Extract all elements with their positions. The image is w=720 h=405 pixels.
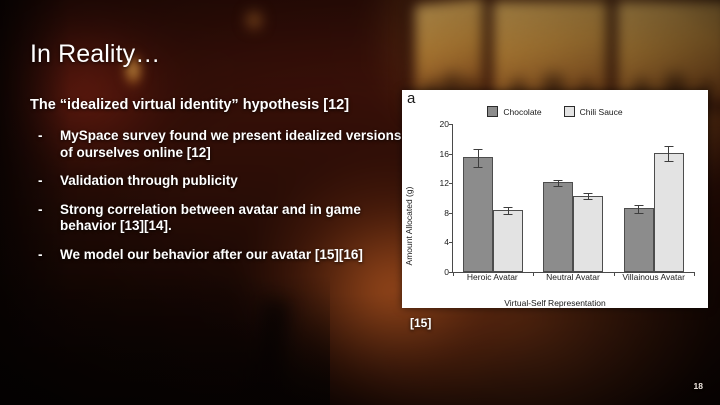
- error-bar-cap: [474, 167, 483, 168]
- chart-bar-group: [614, 124, 694, 272]
- chart-legend: Chocolate Chili Sauce: [402, 106, 708, 117]
- error-bar-cap: [634, 213, 643, 214]
- chart-x-tick-label: Neutral Avatar: [533, 272, 614, 282]
- chart-bar: [654, 153, 684, 272]
- chart-bar-groups: [453, 124, 694, 272]
- chart-bar: [624, 208, 654, 272]
- error-bar-stem: [668, 146, 669, 162]
- chart-y-tick-label: 12: [440, 178, 449, 188]
- chart-plot-area: 048121620: [452, 124, 694, 273]
- bullet-list: - MySpace survey found we present ideali…: [38, 128, 410, 275]
- legend-item-chocolate: Chocolate: [487, 106, 541, 117]
- chart-y-axis-label: Amount Allocated (g): [404, 156, 414, 296]
- bullet-text: We model our behavior after our avatar […: [60, 247, 410, 264]
- chart-bar: [493, 210, 523, 272]
- bullet-marker: -: [38, 128, 60, 161]
- bullet-text: Validation through publicity: [60, 173, 410, 190]
- presentation-slide: In Reality… The “idealized virtual ident…: [0, 0, 720, 405]
- bullet-marker: -: [38, 173, 60, 190]
- error-bar-cap: [504, 214, 513, 215]
- list-item: - MySpace survey found we present ideali…: [38, 128, 410, 161]
- chart-bar: [543, 182, 573, 272]
- bullet-text: Strong correlation between avatar and in…: [60, 202, 410, 235]
- list-item: - Strong correlation between avatar and …: [38, 202, 410, 235]
- bullet-text: MySpace survey found we present idealize…: [60, 128, 410, 161]
- list-item: - Validation through publicity: [38, 173, 410, 190]
- legend-swatch-chili-sauce: [564, 106, 575, 117]
- legend-swatch-chocolate: [487, 106, 498, 117]
- chart-y-tick-label: 16: [440, 149, 449, 159]
- bullet-marker: -: [38, 247, 60, 264]
- chart-bar-group: [453, 124, 533, 272]
- list-item: - We model our behavior after our avatar…: [38, 247, 410, 264]
- chart-error-bar: [504, 207, 513, 215]
- bullet-marker: -: [38, 202, 60, 235]
- chart-y-tick-mark: [449, 213, 453, 214]
- chart-x-tick-label: Villainous Avatar: [613, 272, 694, 282]
- error-bar-cap: [554, 186, 563, 187]
- page-number: 18: [694, 381, 703, 391]
- chart-bar-group: [533, 124, 613, 272]
- chart-x-axis-label: Virtual-Self Representation: [402, 298, 708, 308]
- chart-y-tick-mark: [449, 242, 453, 243]
- chart-y-tick-mark: [449, 124, 453, 125]
- chart-x-tick-label: Heroic Avatar: [452, 272, 533, 282]
- chart-error-bar: [554, 180, 563, 187]
- chart-plot-wrapper: Amount Allocated (g) 048121620 Heroic Av…: [402, 120, 708, 308]
- error-bar-cap: [584, 199, 593, 200]
- chart-error-bar: [584, 193, 593, 200]
- figure-citation: [15]: [410, 316, 431, 330]
- figure-chart-panel: a Chocolate Chili Sauce Amount Allocated…: [402, 90, 708, 308]
- slide-lead-statement: The “idealized virtual identity” hypothe…: [30, 97, 410, 113]
- legend-item-chili-sauce: Chili Sauce: [564, 106, 623, 117]
- legend-label-chocolate: Chocolate: [503, 107, 541, 117]
- chart-error-bar: [634, 205, 643, 214]
- chart-y-tick-label: 20: [440, 119, 449, 129]
- chart-y-tick-mark: [449, 183, 453, 184]
- chart-error-bar: [664, 146, 673, 162]
- chart-y-tick-mark: [449, 154, 453, 155]
- error-bar-cap: [664, 161, 673, 162]
- chart-error-bar: [474, 149, 483, 168]
- error-bar-stem: [478, 149, 479, 168]
- chart-bar: [463, 157, 493, 272]
- chart-x-tick-mark: [694, 272, 695, 276]
- chart-bar: [573, 196, 603, 272]
- chart-x-tick-labels: Heroic AvatarNeutral AvatarVillainous Av…: [452, 272, 694, 282]
- figure-panel-label: a: [407, 90, 415, 107]
- slide-title: In Reality…: [30, 40, 160, 69]
- legend-label-chili-sauce: Chili Sauce: [580, 107, 623, 117]
